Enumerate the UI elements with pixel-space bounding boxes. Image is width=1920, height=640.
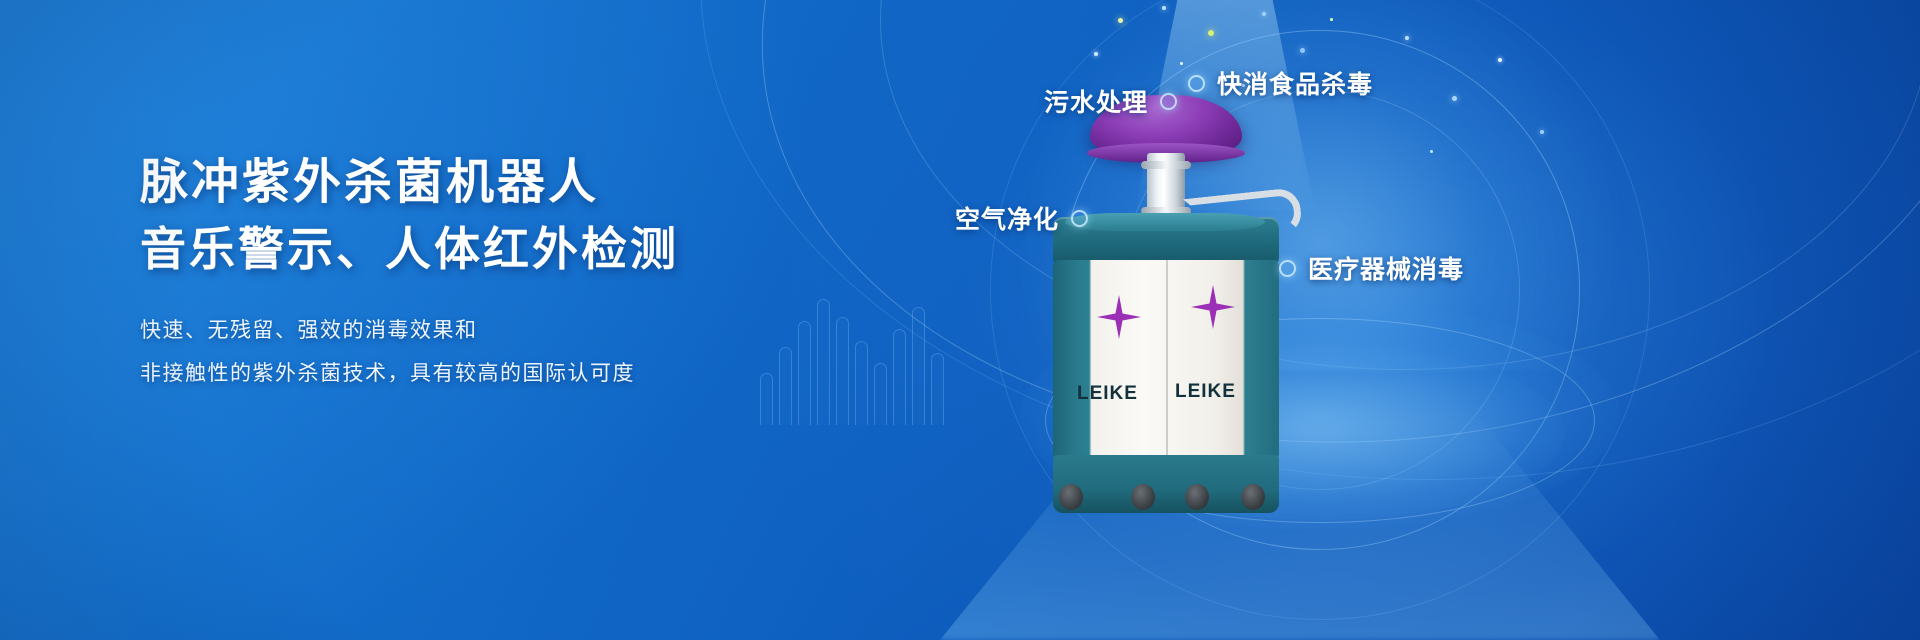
subtitle-block: 快速、无残留、强效的消毒效果和 非接触性的紫外杀菌技术，具有较高的国际认可度: [140, 309, 840, 395]
banner-copy-block: 脉冲紫外杀菌机器人 音乐警示、人体红外检测 快速、无残留、强效的消毒效果和 非接…: [140, 150, 840, 395]
particle: [1262, 12, 1266, 16]
subtitle-line-2: 非接触性的紫外杀菌技术，具有较高的国际认可度: [140, 352, 840, 395]
caster-wheel: [1241, 484, 1265, 510]
particle: [1180, 62, 1183, 65]
particle: [1498, 58, 1502, 62]
callout-label: 快消食品杀毒: [1217, 65, 1373, 101]
callout-node-icon: [1279, 260, 1296, 277]
caster-wheel: [1185, 484, 1209, 510]
particle: [1300, 48, 1305, 53]
brand-label-right: LEIKE: [1175, 381, 1236, 403]
stem-ring-upper: [1141, 161, 1191, 169]
particle: [1430, 150, 1433, 153]
promotional-banner: LEIKE LEIKE 快消食品杀毒 污水处理 空气净化 医疗器械消毒 脉冲紫外…: [0, 0, 1920, 640]
particle: [1094, 52, 1098, 56]
callout-label: 污水处理: [1044, 83, 1148, 119]
particle: [1330, 18, 1333, 21]
callout-label: 空气净化: [955, 200, 1059, 236]
particle: [1118, 18, 1123, 23]
headline-secondary: 音乐警示、人体红外检测: [140, 216, 840, 283]
callout-air-purification: 空气净化: [955, 200, 1088, 236]
caster-wheel: [1059, 484, 1083, 510]
callout-node-icon: [1160, 93, 1177, 110]
headline-primary: 脉冲紫外杀菌机器人: [140, 150, 840, 216]
particle: [1540, 130, 1544, 134]
panel-seam: [1166, 260, 1168, 460]
callout-label: 医疗器械消毒: [1308, 250, 1464, 286]
callout-node-icon: [1188, 75, 1205, 92]
robot-body-top-face: [1065, 213, 1265, 231]
particle: [1452, 96, 1457, 101]
callout-medical-equipment: 医疗器械消毒: [1279, 250, 1464, 286]
brand-label-left: LEIKE: [1077, 383, 1138, 405]
subtitle-line-1: 快速、无残留、强效的消毒效果和: [140, 309, 840, 352]
particle: [1162, 6, 1166, 10]
uv-disinfection-robot: LEIKE LEIKE: [1035, 95, 1295, 490]
callout-food-disinfection: 快消食品杀毒: [1188, 65, 1373, 101]
callout-node-icon: [1071, 210, 1088, 227]
particle: [1208, 30, 1214, 36]
callout-sewage-treatment: 污水处理: [1044, 83, 1177, 119]
particle: [1405, 36, 1409, 40]
caster-wheel: [1131, 484, 1155, 510]
